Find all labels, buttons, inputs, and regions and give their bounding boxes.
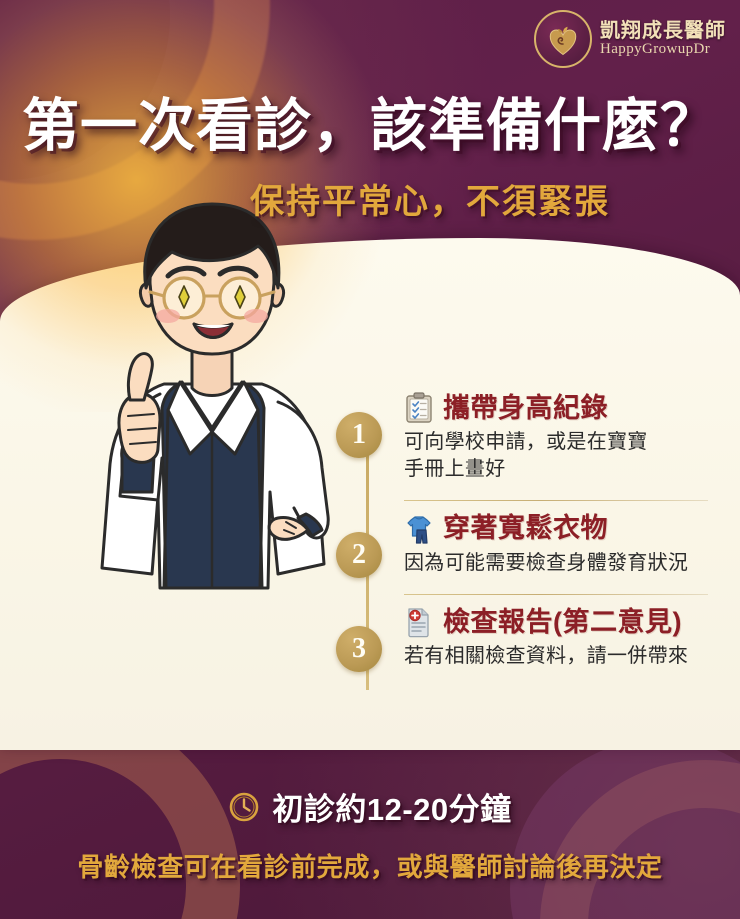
preparation-steps-list: 1 攜帶身高紀錄 可向學校申請，或是在寶寶 手冊上畫好 — [336, 392, 708, 674]
step-content: 攜帶身高紀錄 可向學校申請，或是在寶寶 手冊上畫好 — [404, 392, 708, 487]
list-item: 3 檢查報告(第二意見) 若有相關檢查資料，請一併帶來 — [336, 606, 708, 674]
step-number-badge: 3 — [336, 626, 382, 672]
step-title: 攜帶身高紀錄 — [443, 392, 608, 424]
medical-report-document-icon — [404, 606, 434, 638]
poster-root: 凱翔成長醫師 HappyGrowupDr 第一次看診，該準備什麼？ 保持平常心，… — [0, 0, 740, 919]
footer-duration-text: 初診約12-20分鐘 — [272, 784, 511, 829]
footer-band: 初診約12-20分鐘 骨齡檢查可在看診前完成，或與醫師討論後再決定 — [0, 750, 740, 919]
step-heading: 檢查報告(第二意見) — [404, 606, 708, 638]
step-content: 穿著寬鬆衣物 因為可能需要檢查身體發育狀況 — [404, 512, 708, 580]
step-description: 因為可能需要檢查身體發育狀況 — [404, 550, 708, 577]
step-heading: 穿著寬鬆衣物 — [404, 512, 708, 544]
step-title: 檢查報告(第二意見) — [443, 606, 682, 638]
cartoon-doctor-illustration — [72, 196, 352, 626]
clock-icon — [228, 791, 260, 823]
step-description: 可向學校申請，或是在寶寶 手冊上畫好 — [404, 429, 708, 483]
step-description: 若有相關檢查資料，請一併帶來 — [404, 643, 708, 670]
clothing-shirt-pants-icon — [404, 513, 434, 545]
heart-sprout-logo-icon — [534, 10, 592, 68]
brand-name-en: HappyGrowupDr — [600, 42, 726, 57]
footer-duration-row: 初診約12-20分鐘 — [0, 784, 740, 829]
heart-sprout-glyph — [548, 26, 578, 56]
list-item: 2 穿著寬鬆衣物 因為可能需要檢查身體發育狀況 — [336, 512, 708, 580]
step-number-badge: 1 — [336, 412, 382, 458]
clipboard-checklist-icon — [404, 392, 434, 424]
step-number-badge: 2 — [336, 532, 382, 578]
headline-block: 第一次看診，該準備什麼？ 保持平常心，不須緊張 — [0, 96, 740, 223]
step-title: 穿著寬鬆衣物 — [443, 512, 608, 544]
step-divider — [404, 594, 708, 595]
step-divider — [404, 500, 708, 501]
brand-logo-text: 凱翔成長醫師 HappyGrowupDr — [600, 21, 726, 57]
page-subtitle: 保持平常心，不須緊張 — [0, 174, 740, 223]
page-title: 第一次看診，該準備什麼？ — [0, 96, 740, 158]
brand-name-cn: 凱翔成長醫師 — [600, 21, 726, 41]
footer-note-text: 骨齡檢查可在看診前完成，或與醫師討論後再決定 — [0, 847, 740, 884]
list-item: 1 攜帶身高紀錄 可向學校申請，或是在寶寶 手冊上畫好 — [336, 392, 708, 487]
step-heading: 攜帶身高紀錄 — [404, 392, 708, 424]
step-content: 檢查報告(第二意見) 若有相關檢查資料，請一併帶來 — [404, 606, 708, 674]
brand-logo: 凱翔成長醫師 HappyGrowupDr — [534, 10, 726, 68]
